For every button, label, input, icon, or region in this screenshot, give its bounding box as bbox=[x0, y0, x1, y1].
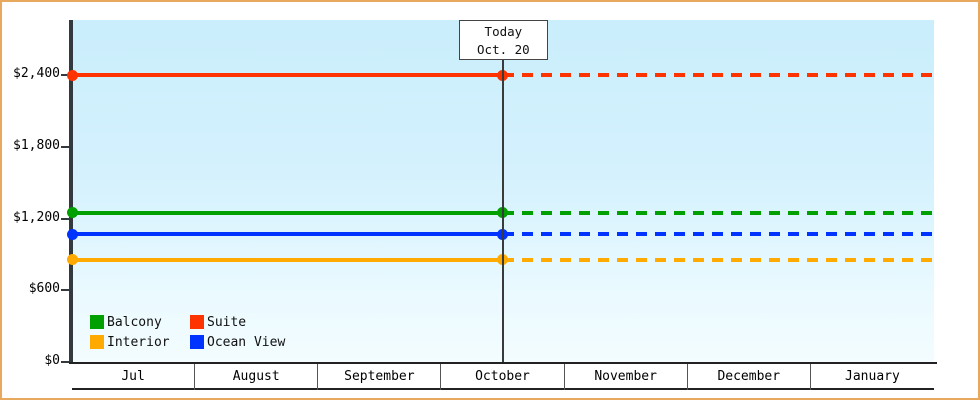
y-tick-mark bbox=[61, 361, 69, 363]
y-tick-label: $0 bbox=[44, 353, 60, 368]
y-tick-mark bbox=[61, 289, 69, 291]
legend-item-balcony[interactable]: Balcony bbox=[90, 315, 190, 330]
month-label-november[interactable]: November bbox=[565, 364, 688, 390]
legend-swatch-icon bbox=[90, 315, 104, 329]
x-axis-month-labels: JulAugustSeptemberOctoberNovemberDecembe… bbox=[72, 364, 934, 390]
legend-item-suite[interactable]: Suite bbox=[190, 315, 246, 330]
y-tick-label: $600 bbox=[29, 281, 60, 296]
chart-legend: BalconySuiteInteriorOcean View bbox=[90, 312, 285, 352]
series-start-dot bbox=[67, 70, 78, 81]
chart-frame: $0$600$1,200$1,800$2,400 Today Oct. 20 B… bbox=[0, 0, 980, 400]
today-date: Oct. 20 bbox=[460, 41, 547, 59]
series-segment-actual bbox=[72, 211, 503, 215]
today-vertical-line bbox=[502, 20, 504, 362]
series-start-dot bbox=[67, 229, 78, 240]
today-label: Today bbox=[460, 23, 547, 41]
series-segment-forecast bbox=[503, 232, 934, 236]
y-tick-mark bbox=[61, 146, 69, 148]
month-label-august[interactable]: August bbox=[195, 364, 318, 390]
series-segment-forecast bbox=[503, 211, 934, 215]
legend-swatch-icon bbox=[90, 335, 104, 349]
legend-swatch-icon bbox=[190, 315, 204, 329]
series-segment-forecast bbox=[503, 258, 934, 262]
legend-swatch-icon bbox=[190, 335, 204, 349]
y-tick-mark bbox=[61, 218, 69, 220]
legend-item-interior[interactable]: Interior bbox=[90, 335, 190, 350]
series-segment-actual bbox=[72, 232, 503, 236]
y-tick-label: $2,400 bbox=[13, 66, 60, 81]
series-segment-actual bbox=[72, 258, 503, 262]
series-start-dot bbox=[67, 207, 78, 218]
legend-label: Ocean View bbox=[207, 335, 285, 350]
y-tick-label: $1,200 bbox=[13, 210, 60, 225]
legend-label: Suite bbox=[207, 315, 246, 330]
series-start-dot bbox=[67, 254, 78, 265]
month-label-december[interactable]: December bbox=[688, 364, 811, 390]
month-label-january[interactable]: January bbox=[811, 364, 934, 390]
legend-label: Interior bbox=[107, 335, 170, 350]
legend-item-ocean-view[interactable]: Ocean View bbox=[190, 335, 285, 350]
today-tooltip: Today Oct. 20 bbox=[459, 20, 548, 60]
legend-row: BalconySuite bbox=[90, 312, 285, 332]
legend-label: Balcony bbox=[107, 315, 162, 330]
series-segment-actual bbox=[72, 73, 503, 77]
y-tick-label: $1,800 bbox=[13, 138, 60, 153]
series-segment-forecast bbox=[503, 73, 934, 77]
month-label-september[interactable]: September bbox=[318, 364, 441, 390]
legend-row: InteriorOcean View bbox=[90, 332, 285, 352]
month-label-october[interactable]: October bbox=[441, 364, 564, 390]
month-label-jul[interactable]: Jul bbox=[72, 364, 195, 390]
